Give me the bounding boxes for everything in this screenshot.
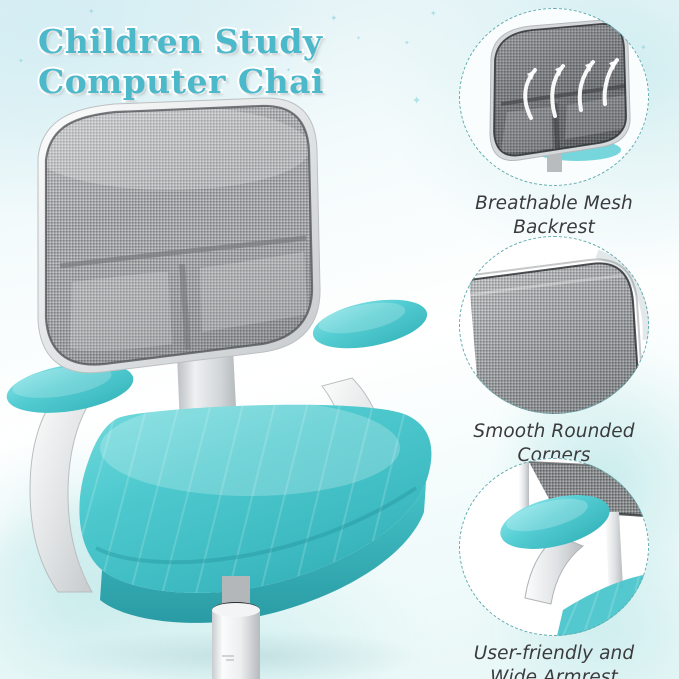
poster-title-line-2: Computer Chai	[38, 62, 324, 102]
feature-ring-3	[459, 458, 649, 636]
sparkle-icon: ✦	[330, 14, 338, 23]
sparkle-icon: ✦	[88, 8, 95, 16]
feature-bubble-1	[459, 8, 649, 186]
sparkle-icon: ✦	[404, 40, 410, 47]
sparkle-icon: ✦	[18, 58, 24, 65]
feature-label-breathable-mesh-backrest: Breathable Mesh Backrest	[429, 192, 679, 239]
sparkle-icon: ✦	[356, 36, 361, 42]
poster-title-line-1: Children Study	[38, 22, 324, 62]
product-feature-poster: ✦✦✦✦✦✦✦✦✦✦✦ Children Study Computer Chai	[0, 0, 679, 679]
feature-bubble-2	[459, 236, 649, 414]
feature-label-2-line-1: Smooth Rounded	[429, 420, 679, 444]
main-chair-image	[0, 96, 452, 679]
feature-callout-column: Breathable Mesh Backrest	[429, 0, 679, 679]
feature-ring-1	[459, 8, 649, 186]
feature-label-3-line-2: Wide Armrest	[429, 666, 679, 679]
feature-label-3-line-1: User-friendly and	[429, 642, 679, 666]
feature-callout-smooth-rounded-corners[interactable]: Smooth Rounded Corners	[429, 236, 679, 467]
feature-bubble-3	[459, 458, 649, 636]
poster-title: Children Study Computer Chai	[38, 22, 324, 103]
feature-label-user-friendly-wide-armrest: User-friendly and Wide Armrest	[429, 642, 679, 679]
feature-label-1-line-1: Breathable Mesh	[429, 192, 679, 216]
feature-callout-user-friendly-wide-armrest[interactable]: User-friendly and Wide Armrest	[429, 458, 679, 679]
feature-ring-2	[459, 236, 649, 414]
feature-callout-breathable-mesh-backrest[interactable]: Breathable Mesh Backrest	[429, 8, 679, 239]
